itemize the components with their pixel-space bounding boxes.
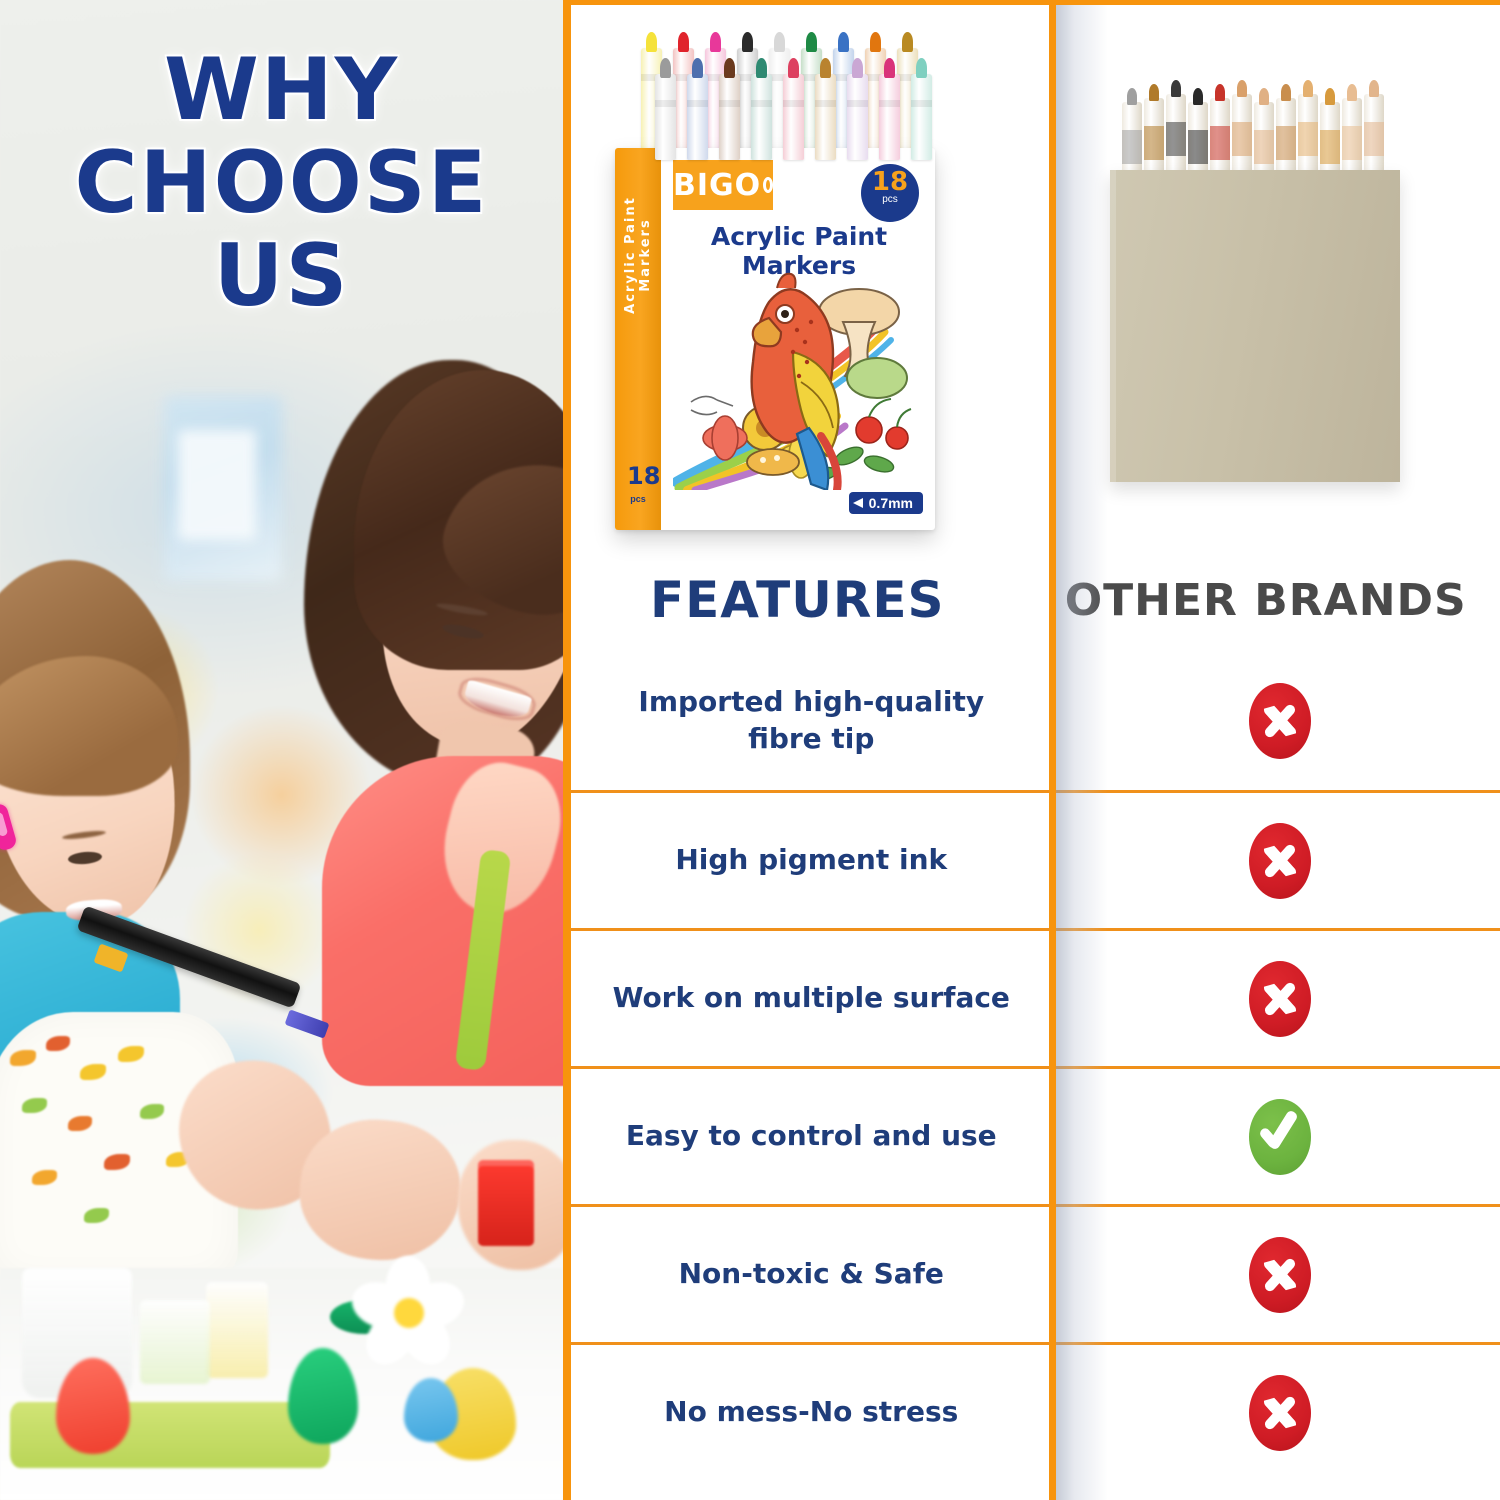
- page-headline: WHY CHOOSE US: [0, 44, 563, 323]
- tip-size-badge: 0.7mm: [849, 492, 923, 514]
- cross-icon: [1249, 683, 1311, 759]
- feature-line-1: No mess-No stress: [591, 1394, 1032, 1431]
- header-other-brands-cell: OTHER BRANDS: [1032, 575, 1500, 626]
- bigo-markers: [631, 10, 931, 160]
- decor-jar-yellow: [206, 1282, 268, 1378]
- header-features: FEATURES: [650, 571, 945, 629]
- other-brands-mark-cell: [1060, 1099, 1500, 1175]
- other-brands-mark-cell: [1060, 1375, 1500, 1451]
- marker-front-8: [911, 74, 932, 160]
- brand-logo-text: BIGO: [673, 168, 761, 203]
- cross-icon: [1249, 961, 1311, 1037]
- comparison-row: Work on multiple surface: [563, 928, 1500, 1066]
- marker-front-6: [847, 74, 868, 160]
- other-brands-mark-cell: [1060, 683, 1500, 759]
- other-brands-mark-cell: [1060, 1237, 1500, 1313]
- decor-jar-flower: [140, 1300, 210, 1384]
- feature-line-1: Imported high-quality: [591, 684, 1032, 721]
- check-icon: [1249, 1099, 1311, 1175]
- box-spine-count-unit: pcs: [627, 494, 649, 504]
- header-features-cell: FEATURES: [563, 571, 1032, 629]
- comparison-rows: Imported high-qualityfibre tipHigh pigme…: [563, 652, 1500, 1480]
- competitor-product-cell: [1032, 0, 1500, 548]
- marker-front-4: [783, 74, 804, 160]
- product-images-row: Acrylic Paint Markers 18 pcs BIGO 18 pcs: [563, 0, 1500, 548]
- marker-front-7: [879, 74, 900, 160]
- pieces-count-unit: pcs: [861, 194, 919, 205]
- comparison-row: No mess-No stress: [563, 1342, 1500, 1480]
- feature-label: Non-toxic & Safe: [563, 1256, 1060, 1293]
- feature-line-2: fibre tip: [591, 721, 1032, 758]
- lifestyle-photo-panel: WHY CHOOSE US: [0, 0, 563, 1500]
- panel-divider: [563, 0, 571, 1500]
- comparison-infographic: WHY CHOOSE US Acrylic Paint Markers 18 p…: [0, 0, 1500, 1500]
- brand-logo-dot-icon: [763, 177, 773, 193]
- feature-line-1: High pigment ink: [591, 842, 1032, 879]
- pieces-count-badge: 18 pcs: [861, 164, 919, 222]
- feature-label: Work on multiple surface: [563, 980, 1060, 1017]
- other-brands-mark-cell: [1060, 823, 1500, 899]
- comparison-row: Non-toxic & Safe: [563, 1204, 1500, 1342]
- marker-front-5: [815, 74, 836, 160]
- parrot-artwork: [673, 260, 925, 490]
- paint-pot-red: [478, 1160, 534, 1246]
- comparison-panel: Acrylic Paint Markers 18 pcs BIGO 18 pcs: [563, 0, 1500, 1500]
- feature-line-1: Work on multiple surface: [591, 980, 1032, 1017]
- feature-label: Easy to control and use: [563, 1118, 1060, 1155]
- competitor-product: [1092, 64, 1422, 504]
- woman-figure: [296, 352, 563, 1112]
- parrot-illustration-svg: [673, 260, 925, 490]
- marker-front-2: [719, 74, 740, 160]
- competitor-box: [1110, 170, 1400, 482]
- column-divider: [1049, 0, 1056, 1500]
- feature-label: Imported high-qualityfibre tip: [563, 684, 1060, 758]
- table-headers: FEATURES OTHER BRANDS: [563, 548, 1500, 652]
- marker-front-3: [751, 74, 772, 160]
- comparison-row: Easy to control and use: [563, 1066, 1500, 1204]
- box-spine-count: 18: [627, 462, 649, 490]
- box-spine: Acrylic Paint Markers 18 pcs: [615, 148, 661, 530]
- cross-icon: [1249, 1237, 1311, 1313]
- brand-product-cell: Acrylic Paint Markers 18 pcs BIGO 18 pcs: [563, 0, 1032, 548]
- bigo-box: Acrylic Paint Markers 18 pcs BIGO 18 pcs: [615, 148, 935, 530]
- marker-front-1: [687, 74, 708, 160]
- headline-line-3: US: [0, 230, 563, 323]
- feature-line-1: Easy to control and use: [591, 1118, 1032, 1155]
- other-brands-mark-cell: [1060, 961, 1500, 1037]
- box-spine-title: Acrylic Paint Markers: [623, 180, 653, 330]
- feature-line-1: Non-toxic & Safe: [591, 1256, 1032, 1293]
- daisy-flower: [352, 1252, 464, 1364]
- feature-label: No mess-No stress: [563, 1394, 1060, 1431]
- marker-front-0: [655, 74, 676, 160]
- header-other-brands: OTHER BRANDS: [1065, 575, 1467, 626]
- headline-line-2: CHOOSE: [0, 137, 563, 230]
- comparison-row: High pigment ink: [563, 790, 1500, 928]
- bigo-product: Acrylic Paint Markers 18 pcs BIGO 18 pcs: [615, 10, 945, 540]
- brand-logo: BIGO: [673, 160, 773, 210]
- comparison-row: Imported high-qualityfibre tip: [563, 652, 1500, 790]
- cross-icon: [1249, 1375, 1311, 1451]
- wall-poster-inner: [178, 430, 256, 540]
- top-border: [563, 0, 1500, 5]
- headline-line-1: WHY: [0, 44, 563, 137]
- cross-icon: [1249, 823, 1311, 899]
- feature-label: High pigment ink: [563, 842, 1060, 879]
